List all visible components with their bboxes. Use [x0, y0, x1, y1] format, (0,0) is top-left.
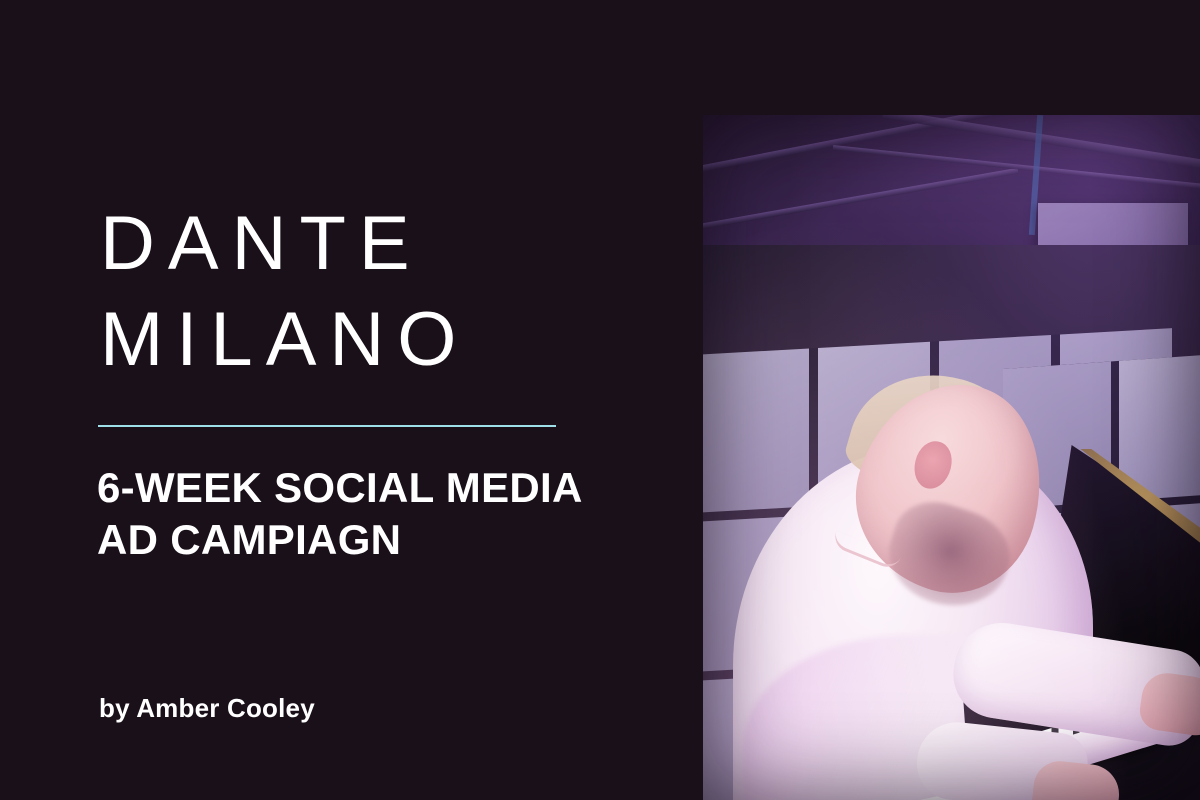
page-title: DANTE MILANO — [100, 196, 660, 388]
hero-photo — [703, 115, 1200, 800]
title-line-second: MILANO — [100, 292, 660, 388]
title-line-first: DANTE — [100, 196, 660, 292]
presentation-slide: DANTE MILANO 6-WEEK SOCIAL MEDIA AD CAMP… — [0, 0, 1200, 800]
subtitle-line-first: 6-WEEK SOCIAL MEDIA — [97, 462, 677, 514]
subtitle-line-second: AD CAMPIAGN — [97, 514, 677, 566]
subtitle: 6-WEEK SOCIAL MEDIA AD CAMPIAGN — [97, 462, 677, 566]
panel-cell — [703, 348, 809, 512]
author-byline: by Amber Cooley — [99, 693, 315, 724]
text-panel: DANTE MILANO 6-WEEK SOCIAL MEDIA AD CAMP… — [0, 0, 700, 800]
divider-rule — [98, 425, 556, 427]
